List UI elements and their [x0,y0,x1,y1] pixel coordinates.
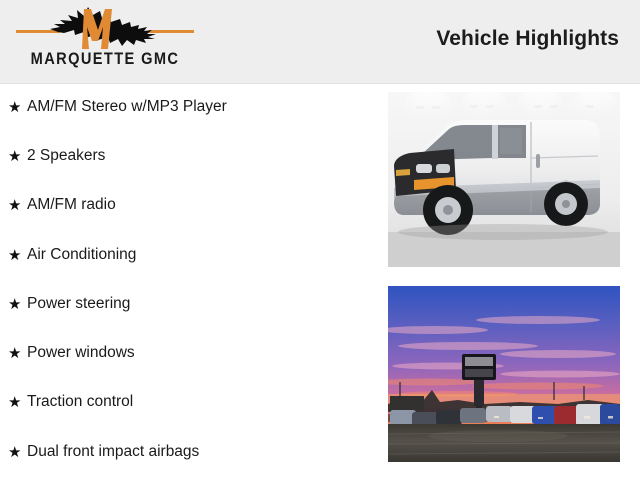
vehicle-photo-graphic [388,92,620,267]
vehicle-features-list: ★ AM/FM Stereo w/MP3 Player ★ 2 Speakers… [0,84,388,480]
list-item: ★ Power steering [8,293,130,315]
list-item: ★ Power windows [8,342,135,364]
list-item: ★ Air Conditioning [8,244,136,266]
vehicle-highlights-page: MARQUETTE GMC Vehicle Highlights ★ AM/FM… [0,0,640,480]
feature-label: Power steering [27,296,130,312]
star-icon: ★ [8,297,27,312]
feature-label: Traction control [27,394,133,410]
upper-peninsula-silhouette-icon [48,5,164,51]
feature-label: Air Conditioning [27,247,136,263]
star-icon: ★ [8,248,27,263]
feature-label: 2 Speakers [27,148,105,164]
logo-emblem [10,5,200,51]
star-icon: ★ [8,100,27,115]
vehicle-photo[interactable] [388,92,620,267]
list-item: ★ 2 Speakers [8,145,105,167]
dealership-lot-graphic [388,286,620,462]
star-icon: ★ [8,198,27,213]
list-item: ★ Dual front impact airbags [8,441,199,463]
star-icon: ★ [8,395,27,410]
page-header: MARQUETTE GMC Vehicle Highlights [0,0,640,84]
dealership-lot-photo[interactable] [388,286,620,462]
star-icon: ★ [8,445,27,460]
star-icon: ★ [8,149,27,164]
list-item: ★ AM/FM Stereo w/MP3 Player [8,96,227,118]
dealer-logo[interactable]: MARQUETTE GMC [10,5,200,79]
page-title: Vehicle Highlights [436,27,619,51]
feature-label: AM/FM Stereo w/MP3 Player [27,99,227,115]
feature-label: Power windows [27,345,135,361]
dealer-wordmark: MARQUETTE GMC [23,49,186,69]
feature-label: Dual front impact airbags [27,444,199,460]
star-icon: ★ [8,346,27,361]
list-item: ★ Traction control [8,391,133,413]
feature-label: AM/FM radio [27,197,116,213]
list-item: ★ AM/FM radio [8,194,116,216]
